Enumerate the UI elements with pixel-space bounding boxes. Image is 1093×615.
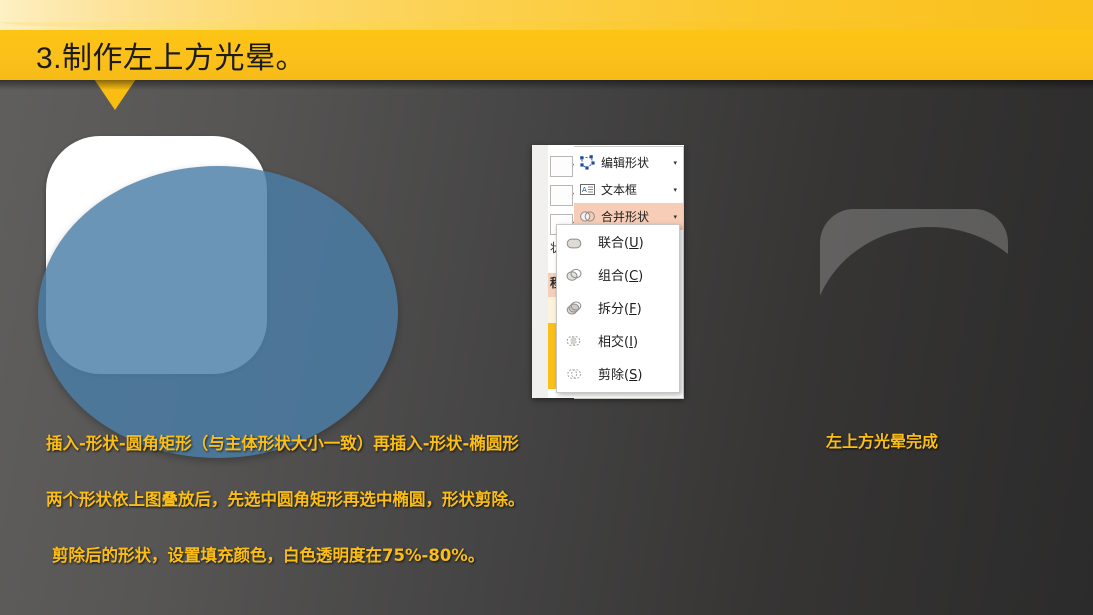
caption-line-2: 两个形状依上图叠放后，先选中圆角矩形再选中椭圆，形状剪除。 — [46, 486, 525, 510]
merge-shapes-menu-screenshot: ▾ ▾ ▾ 状 程 — [532, 145, 684, 398]
chevron-down-icon[interactable]: ▾ — [673, 213, 677, 221]
edit-shape-icon — [579, 154, 596, 171]
text-box-icon: A — [579, 181, 596, 198]
title-banner-shadow — [0, 80, 1093, 90]
union-icon — [564, 232, 584, 252]
combine-icon — [564, 265, 584, 285]
glow-result-shape — [800, 185, 1040, 375]
fragment-icon — [564, 298, 584, 318]
chevron-down-icon[interactable]: ▾ — [673, 159, 677, 167]
submenu-item-label: 剪除(S) — [598, 364, 642, 383]
page-title: 3.制作左上方光晕。 — [36, 33, 306, 77]
caption-result: 左上方光晕完成 — [826, 428, 938, 452]
submenu-item-label: 相交(I) — [598, 331, 638, 350]
menu-item-label: 文本框 — [601, 181, 637, 198]
merge-shapes-icon — [579, 208, 596, 225]
slide-canvas: 3.制作左上方光晕。 ▾ ▾ ▾ 状 程 — [0, 0, 1093, 615]
result-shape-stage — [800, 185, 1040, 375]
menu-item-label: 编辑形状 — [601, 154, 649, 171]
intersect-icon — [564, 331, 584, 351]
caption-line-1: 插入-形状-圆角矩形（与主体形状大小一致）再插入-形状-椭圆形 — [46, 430, 519, 454]
menu-item-text-box[interactable]: A 文本框 ▾ — [574, 176, 683, 203]
submenu-item-label: 组合(C) — [598, 265, 643, 284]
ribbon-fragment-box-1[interactable] — [550, 156, 573, 177]
submenu-item-subtract[interactable]: 剪除(S) — [557, 357, 679, 390]
submenu-item-fragment[interactable]: 拆分(F) — [557, 291, 679, 324]
ribbon-fragment-box-2[interactable] — [550, 185, 573, 206]
svg-text:A: A — [582, 186, 587, 194]
submenu-item-union[interactable]: 联合(U) — [557, 225, 679, 258]
ellipse-shape — [38, 166, 398, 458]
submenu-item-intersect[interactable]: 相交(I) — [557, 324, 679, 357]
subtract-icon — [564, 364, 584, 384]
menu-item-label: 合并形状 — [601, 208, 649, 225]
submenu-item-combine[interactable]: 组合(C) — [557, 258, 679, 291]
chevron-down-icon[interactable]: ▾ — [673, 186, 677, 194]
merge-shapes-submenu: 联合(U) 组合(C) — [556, 224, 680, 393]
shapes-demo-stage — [0, 105, 520, 415]
submenu-item-label: 联合(U) — [598, 232, 644, 251]
caption-line-3: 剪除后的形状，设置填充颜色，白色透明度在75%-80%。 — [52, 542, 484, 566]
submenu-item-label: 拆分(F) — [598, 298, 642, 317]
menu-item-edit-shape[interactable]: 编辑形状 ▾ — [574, 149, 683, 176]
ribbon-left-column — [532, 145, 549, 398]
